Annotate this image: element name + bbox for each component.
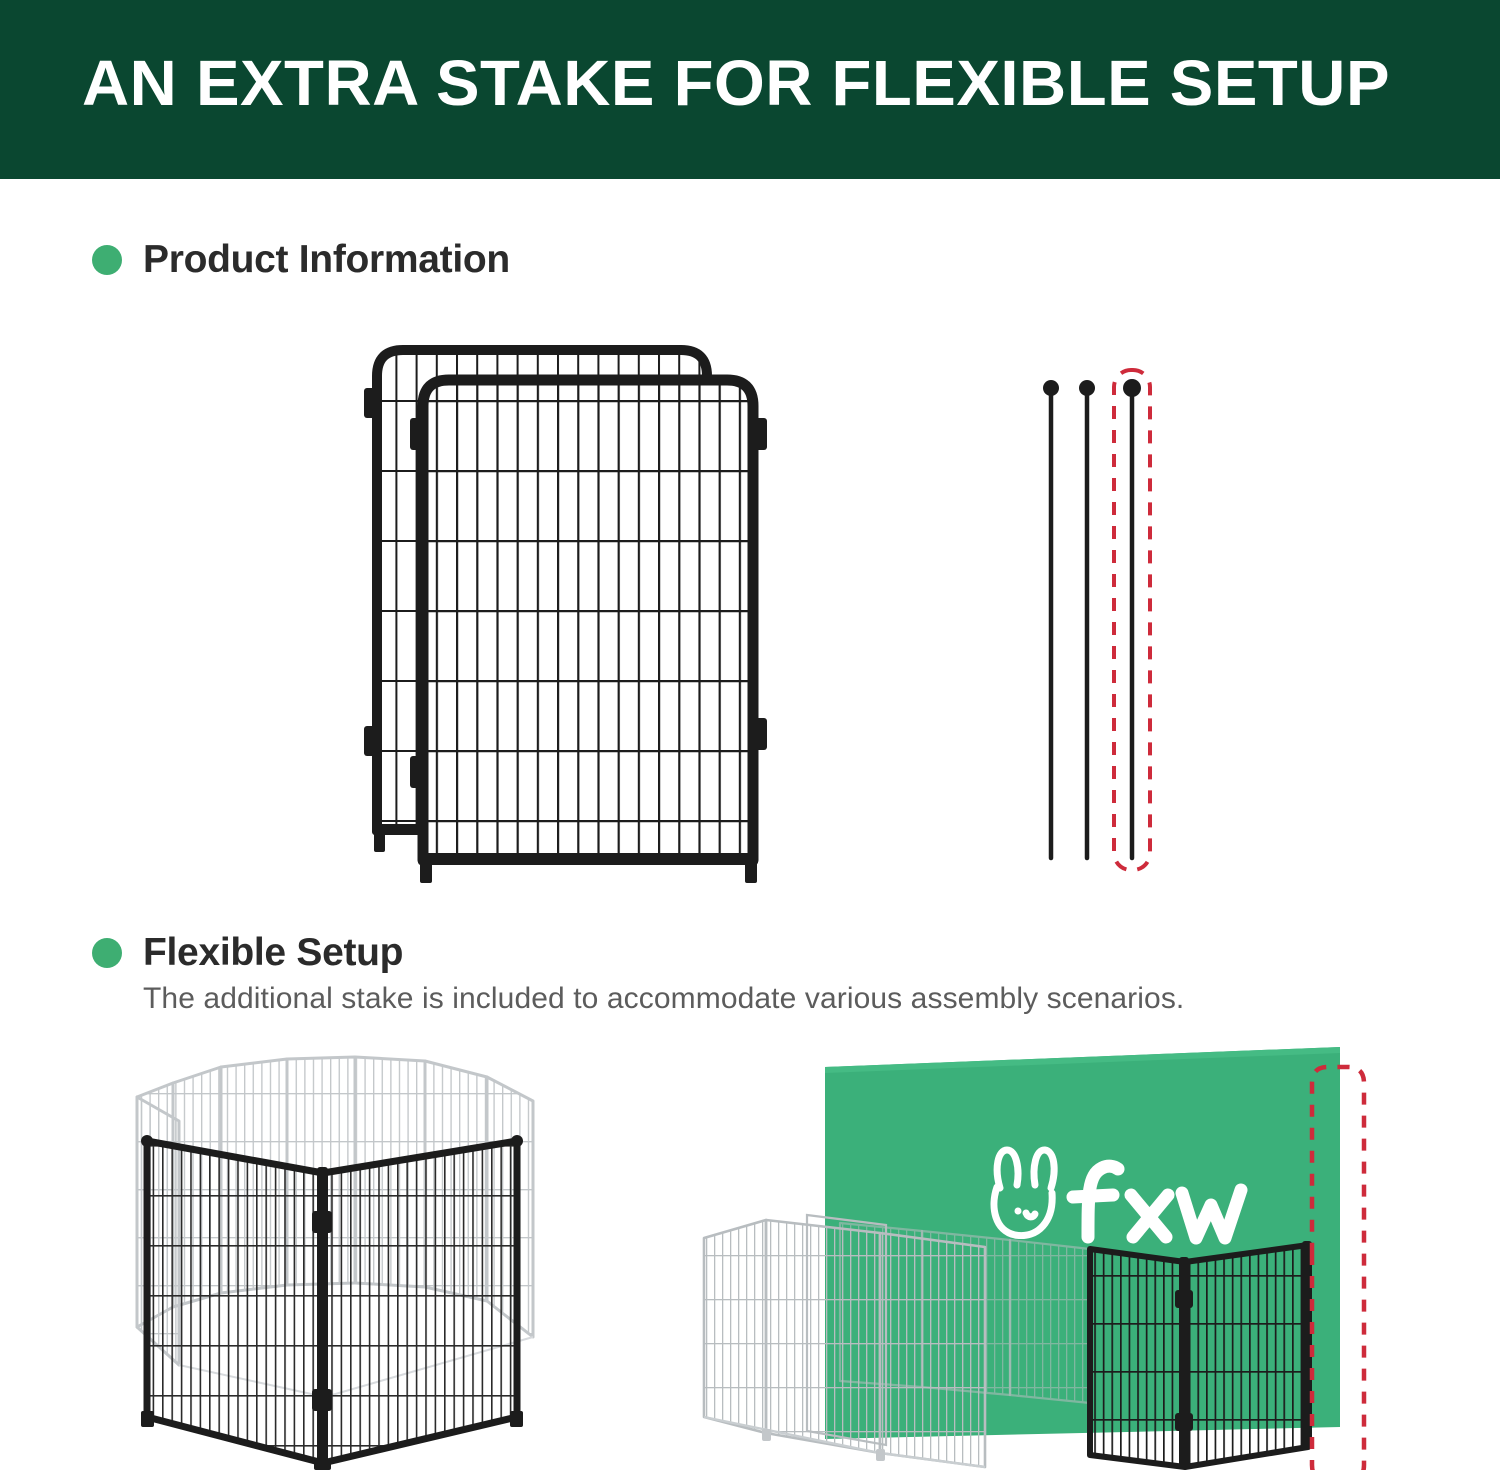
section-subtitle: The additional stake is included to acco… bbox=[143, 982, 1184, 1016]
fence-panel-front bbox=[410, 380, 767, 883]
section-heading-label: Flexible Setup bbox=[143, 931, 403, 975]
banner-title: AN EXTRA STAKE FOR FLEXIBLE SETUP bbox=[82, 50, 1390, 117]
header-banner: AN EXTRA STAKE FOR FLEXIBLE SETUP bbox=[0, 0, 1500, 179]
illustration-stakes bbox=[1020, 360, 1180, 880]
stakes-svg bbox=[1020, 360, 1180, 880]
bullet-icon bbox=[92, 245, 122, 275]
ghost-panel-behind-wall bbox=[922, 1231, 1010, 1395]
section-heading-product-information: Product Information bbox=[92, 238, 510, 282]
stake-3-highlighted bbox=[1114, 370, 1150, 870]
illustration-fence-panels bbox=[355, 330, 775, 890]
stake-2 bbox=[1079, 380, 1095, 858]
highlighted-panel-right bbox=[323, 1135, 523, 1463]
illustration-octagon-playpen bbox=[115, 1045, 585, 1470]
wall-scene-svg bbox=[690, 1035, 1370, 1467]
octagon-playpen-svg bbox=[115, 1045, 585, 1470]
highlighted-panel-a bbox=[1090, 1249, 1185, 1467]
stake-1 bbox=[1043, 380, 1059, 858]
illustration-wall-scene bbox=[690, 1035, 1370, 1467]
section-heading-label: Product Information bbox=[143, 238, 510, 282]
highlighted-panel-b bbox=[1185, 1245, 1308, 1467]
bullet-icon bbox=[92, 938, 122, 968]
fence-panels-svg bbox=[355, 330, 775, 890]
ghost-panel-end bbox=[704, 1220, 766, 1433]
ghost-panel-behind-wall bbox=[840, 1223, 922, 1387]
highlighted-panel-left bbox=[141, 1135, 323, 1463]
section-heading-flexible-setup: Flexible Setup bbox=[92, 931, 403, 975]
ghost-panel-behind-wall bbox=[1010, 1240, 1090, 1403]
